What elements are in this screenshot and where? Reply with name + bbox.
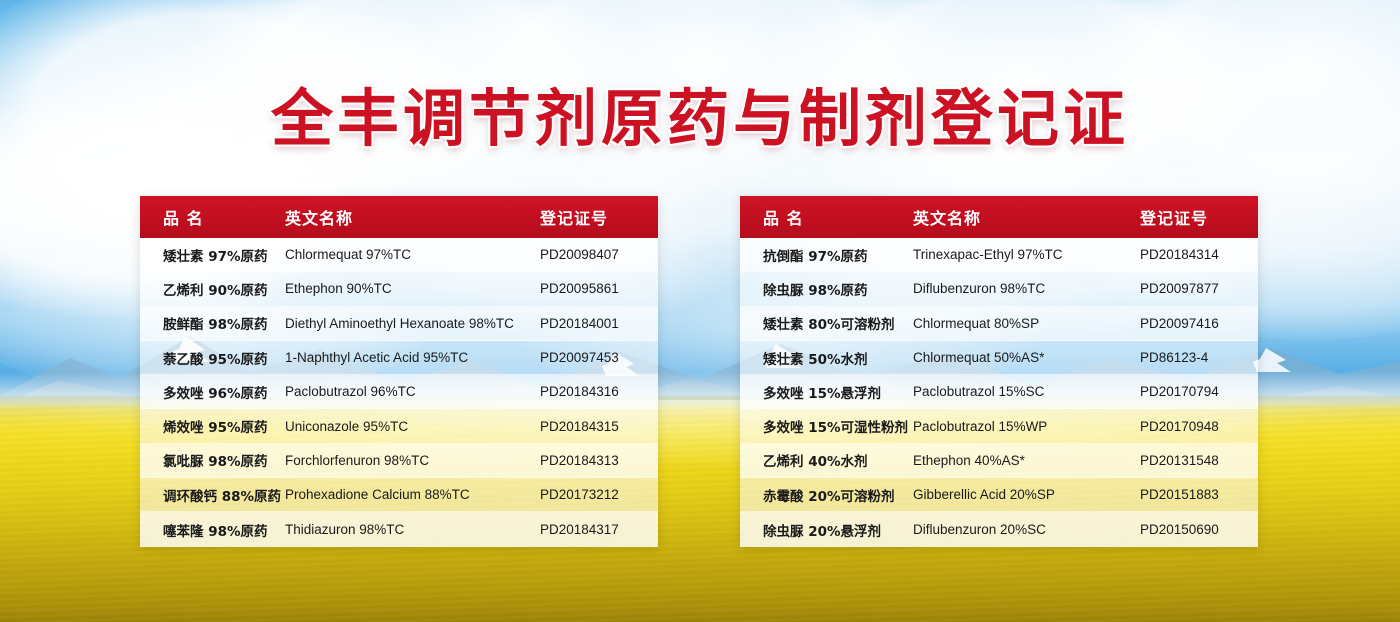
table-row: 多效唑 15%可湿性粉剂 Paclobutrazol 15%WP PD20170… [740, 409, 1258, 443]
column-header-registration-number: 登记证号 [540, 205, 658, 229]
cell-english-name: Thidiazuron 98%TC [285, 522, 540, 537]
cell-english-name: Diethyl Aminoethyl Hexanoate 98%TC [285, 316, 540, 331]
column-header-product-name: 品 名 [740, 205, 913, 229]
table-body-raw-materials: 矮壮素 97%原药 Chlormequat 97%TC PD20098407 乙… [140, 238, 658, 547]
cell-english-name: Ethephon 40%AS* [913, 453, 1140, 468]
cell-product-name: 烯效唑 95%原药 [140, 416, 285, 436]
cell-english-name: Forchlorfenuron 98%TC [285, 453, 540, 468]
column-header-registration-number: 登记证号 [1140, 205, 1258, 229]
table-row: 抗倒酯 97%原药 Trinexapac-Ethyl 97%TC PD20184… [740, 238, 1258, 272]
cell-english-name: Chlormequat 80%SP [913, 316, 1140, 331]
cell-english-name: 1-Naphthyl Acetic Acid 95%TC [285, 350, 540, 365]
table-row: 除虫脲 98%原药 Diflubenzuron 98%TC PD20097877 [740, 272, 1258, 306]
column-header-product-name: 品 名 [140, 205, 285, 229]
table-row: 多效唑 15%悬浮剂 Paclobutrazol 15%SC PD2017079… [740, 375, 1258, 409]
table-row: 矮壮素 50%水剂 Chlormequat 50%AS* PD86123-4 [740, 341, 1258, 375]
cell-registration-number: PD86123-4 [1140, 350, 1258, 365]
cell-product-name: 矮壮素 80%可溶粉剂 [740, 313, 913, 333]
cell-registration-number: PD20150690 [1140, 522, 1258, 537]
table-raw-materials: 品 名 英文名称 登记证号 矮壮素 97%原药 Chlormequat 97%T… [140, 196, 658, 547]
table-row: 噻苯隆 98%原药 Thidiazuron 98%TC PD20184317 [140, 512, 658, 546]
cell-english-name: Uniconazole 95%TC [285, 419, 540, 434]
table-formulations: 品 名 英文名称 登记证号 抗倒酯 97%原药 Trinexapac-Ethyl… [740, 196, 1258, 547]
cell-product-name: 乙烯利 90%原药 [140, 279, 285, 299]
column-header-english-name: 英文名称 [285, 205, 540, 229]
table-header-row: 品 名 英文名称 登记证号 [740, 196, 1258, 238]
cell-registration-number: PD20184001 [540, 316, 658, 331]
cell-english-name: Paclobutrazol 15%SC [913, 384, 1140, 399]
cell-english-name: Gibberellic Acid 20%SP [913, 487, 1140, 502]
table-body-formulations: 抗倒酯 97%原药 Trinexapac-Ethyl 97%TC PD20184… [740, 238, 1258, 547]
cell-product-name: 胺鲜酯 98%原药 [140, 313, 285, 333]
cell-product-name: 氯吡脲 98%原药 [140, 450, 285, 470]
cell-registration-number: PD20184315 [540, 419, 658, 434]
cell-registration-number: PD20170948 [1140, 419, 1258, 434]
cell-product-name: 噻苯隆 98%原药 [140, 520, 285, 540]
table-row: 乙烯利 40%水剂 Ethephon 40%AS* PD20131548 [740, 444, 1258, 478]
table-header-row: 品 名 英文名称 登记证号 [140, 196, 658, 238]
cell-product-name: 调环酸钙 88%原药 [140, 485, 285, 505]
cell-product-name: 抗倒酯 97%原药 [740, 245, 913, 265]
cell-product-name: 多效唑 15%可湿性粉剂 [740, 416, 913, 436]
cell-english-name: Diflubenzuron 20%SC [913, 522, 1140, 537]
cell-product-name: 赤霉酸 20%可溶粉剂 [740, 485, 913, 505]
cell-english-name: Diflubenzuron 98%TC [913, 281, 1140, 296]
table-row: 乙烯利 90%原药 Ethephon 90%TC PD20095861 [140, 272, 658, 306]
table-row: 矮壮素 80%可溶粉剂 Chlormequat 80%SP PD20097416 [740, 307, 1258, 341]
table-row: 萘乙酸 95%原药 1-Naphthyl Acetic Acid 95%TC P… [140, 341, 658, 375]
cell-registration-number: PD20098407 [540, 247, 658, 262]
cell-registration-number: PD20173212 [540, 487, 658, 502]
cell-product-name: 矮壮素 97%原药 [140, 245, 285, 265]
cell-product-name: 萘乙酸 95%原药 [140, 348, 285, 368]
cell-english-name: Paclobutrazol 15%WP [913, 419, 1140, 434]
cell-registration-number: PD20097877 [1140, 281, 1258, 296]
cell-product-name: 多效唑 96%原药 [140, 382, 285, 402]
cell-registration-number: PD20184313 [540, 453, 658, 468]
table-row: 烯效唑 95%原药 Uniconazole 95%TC PD20184315 [140, 409, 658, 443]
cell-english-name: Ethephon 90%TC [285, 281, 540, 296]
cell-product-name: 矮壮素 50%水剂 [740, 348, 913, 368]
table-row: 多效唑 96%原药 Paclobutrazol 96%TC PD20184316 [140, 375, 658, 409]
cell-product-name: 多效唑 15%悬浮剂 [740, 382, 913, 402]
cell-product-name: 乙烯利 40%水剂 [740, 450, 913, 470]
cell-product-name: 除虫脲 20%悬浮剂 [740, 520, 913, 540]
cell-registration-number: PD20095861 [540, 281, 658, 296]
column-header-english-name: 英文名称 [913, 205, 1140, 229]
table-row: 矮壮素 97%原药 Chlormequat 97%TC PD20098407 [140, 238, 658, 272]
cell-english-name: Chlormequat 97%TC [285, 247, 540, 262]
cell-registration-number: PD20151883 [1140, 487, 1258, 502]
cell-registration-number: PD20184316 [540, 384, 658, 399]
registration-tables: 品 名 英文名称 登记证号 矮壮素 97%原药 Chlormequat 97%T… [0, 0, 1400, 622]
cell-registration-number: PD20131548 [1140, 453, 1258, 468]
cell-registration-number: PD20170794 [1140, 384, 1258, 399]
cell-english-name: Paclobutrazol 96%TC [285, 384, 540, 399]
cell-registration-number: PD20184314 [1140, 247, 1258, 262]
table-row: 调环酸钙 88%原药 Prohexadione Calcium 88%TC PD… [140, 478, 658, 512]
cell-registration-number: PD20184317 [540, 522, 658, 537]
cell-product-name: 除虫脲 98%原药 [740, 279, 913, 299]
table-row: 除虫脲 20%悬浮剂 Diflubenzuron 20%SC PD2015069… [740, 512, 1258, 546]
table-row: 氯吡脲 98%原药 Forchlorfenuron 98%TC PD201843… [140, 444, 658, 478]
cell-english-name: Chlormequat 50%AS* [913, 350, 1140, 365]
table-row: 赤霉酸 20%可溶粉剂 Gibberellic Acid 20%SP PD201… [740, 478, 1258, 512]
cell-english-name: Prohexadione Calcium 88%TC [285, 487, 540, 502]
cell-registration-number: PD20097416 [1140, 316, 1258, 331]
cell-registration-number: PD20097453 [540, 350, 658, 365]
table-row: 胺鲜酯 98%原药 Diethyl Aminoethyl Hexanoate 9… [140, 307, 658, 341]
cell-english-name: Trinexapac-Ethyl 97%TC [913, 247, 1140, 262]
